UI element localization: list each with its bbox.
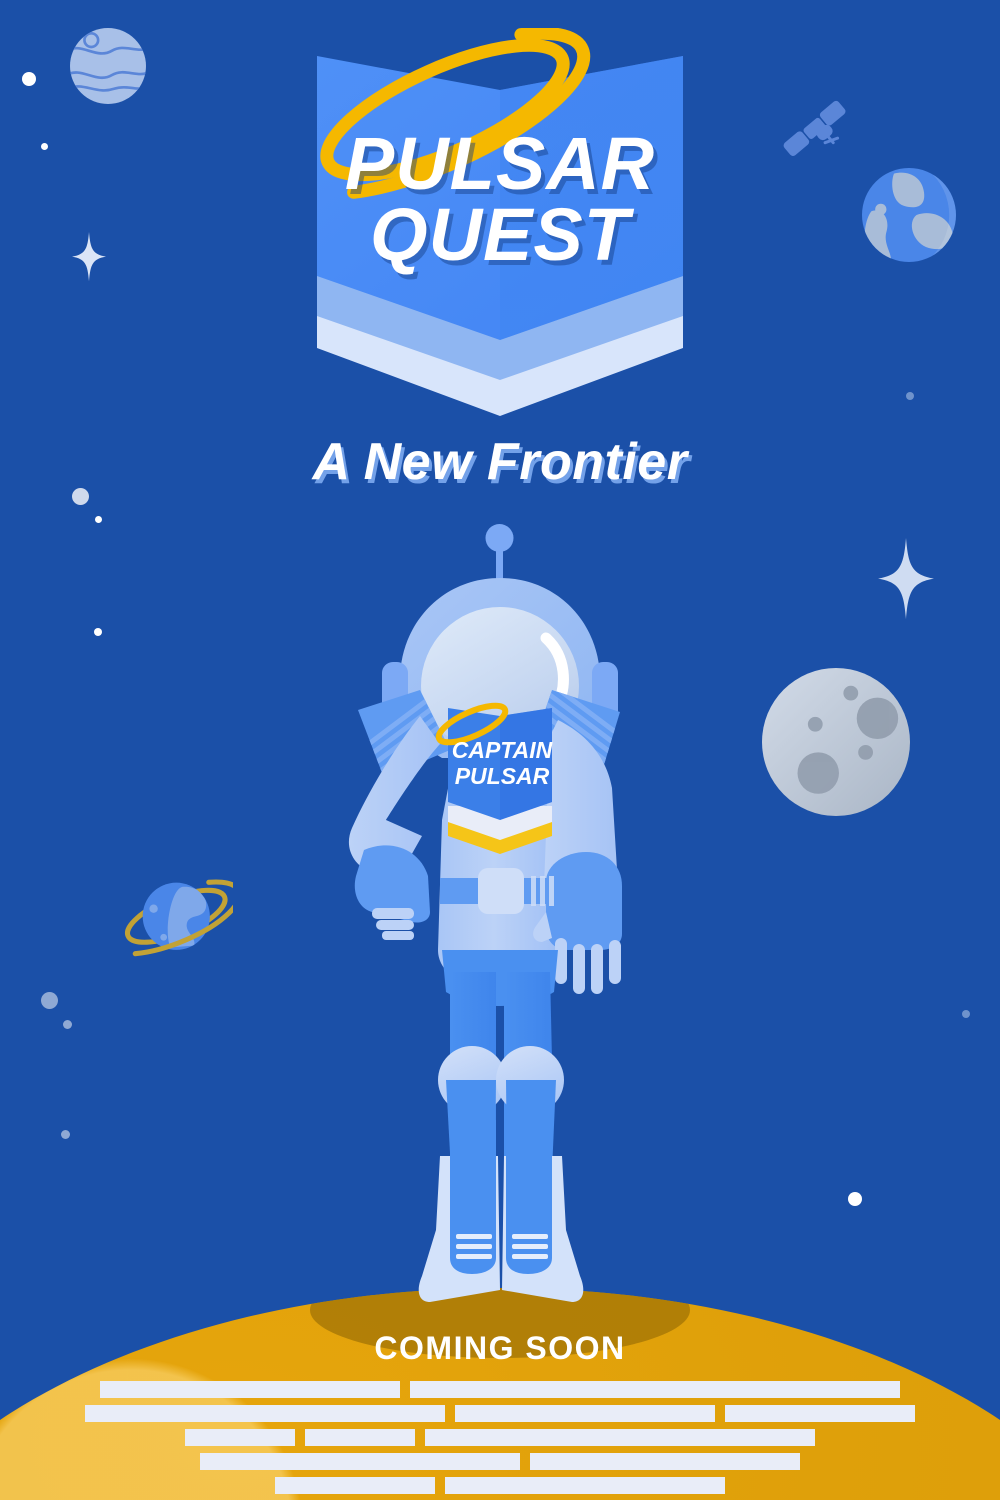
placeholder-bar <box>100 1381 400 1398</box>
placeholder-bar <box>200 1453 520 1470</box>
poster-subtitle: A New Frontier <box>0 432 1000 492</box>
star-dot <box>848 1192 862 1206</box>
boot-inner-right <box>506 1120 552 1274</box>
placeholder-line-row <box>0 1477 1000 1494</box>
status-text: COMING SOON <box>0 1330 1000 1367</box>
placeholder-bar <box>530 1453 800 1470</box>
placeholder-line-row <box>0 1429 1000 1446</box>
placeholder-bar <box>305 1429 415 1446</box>
star-dot <box>41 992 58 1009</box>
placeholder-bar <box>425 1429 815 1446</box>
astronaut-figure: CAPTAIN PULSAR <box>300 520 700 1320</box>
boot-stripes <box>456 1234 548 1259</box>
placeholder-bar <box>445 1477 725 1494</box>
antenna-ball <box>486 524 514 552</box>
star-dot <box>61 1130 70 1139</box>
sparkle-star-right <box>878 538 934 619</box>
badge-text-line2: PULSAR <box>455 763 550 789</box>
placeholder-line-row <box>0 1453 1000 1470</box>
poster-canvas: PULSAR QUEST A New Frontier <box>0 0 1000 1500</box>
belt-stripes <box>531 876 554 906</box>
belt-buckle <box>478 868 524 914</box>
placeholder-line-row <box>0 1405 1000 1422</box>
star-dot <box>94 628 102 636</box>
glove-fingers-left <box>372 908 414 940</box>
placeholder-bar <box>185 1429 295 1446</box>
placeholder-bar <box>455 1405 715 1422</box>
logo-title-line2: QUEST <box>0 199 1000 270</box>
badge-text-line1: CAPTAIN <box>452 737 553 763</box>
placeholder-bar <box>410 1381 900 1398</box>
logo-block: PULSAR QUEST <box>0 10 1000 430</box>
moon-craters <box>762 668 910 816</box>
star-dot <box>962 1010 970 1018</box>
placeholder-text-lines <box>0 1381 1000 1500</box>
planet-ringed <box>120 860 233 973</box>
star-dot <box>95 516 102 523</box>
boot-inner-left <box>450 1120 496 1274</box>
placeholder-bar <box>725 1405 915 1422</box>
placeholder-bar <box>275 1477 435 1494</box>
logo-title: PULSAR QUEST <box>0 128 1000 270</box>
chest-badge: CAPTAIN PULSAR <box>434 698 552 854</box>
placeholder-bar <box>85 1405 445 1422</box>
placeholder-line-row <box>0 1381 1000 1398</box>
star-dot <box>63 1020 72 1029</box>
